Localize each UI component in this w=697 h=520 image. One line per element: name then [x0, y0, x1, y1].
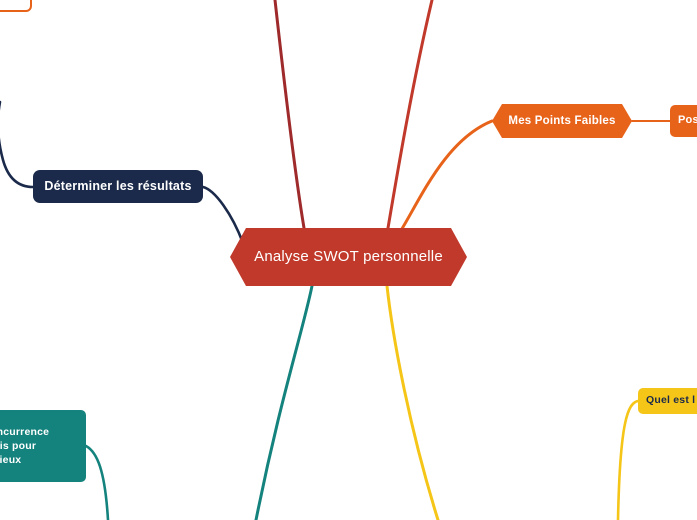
edge-dark-navy-left: [0, 102, 33, 187]
node-concurrence[interactable]: oncurrence lois pour mieux: [0, 410, 86, 482]
mindmap-canvas: Déterminer les résultats Mes Points Faib…: [0, 0, 697, 520]
edge-yellow-right: [618, 401, 638, 520]
edge-dark-red-up: [275, 0, 304, 228]
edge-yellow-down: [387, 286, 438, 520]
edge-orange: [400, 121, 492, 232]
edge-dark-navy: [203, 187, 243, 243]
edge-teal-left: [86, 446, 108, 520]
node-top-left-partial[interactable]: [0, 0, 32, 12]
edge-red-up: [388, 0, 432, 228]
node-mes-points-faibles[interactable]: Mes Points Faibles: [492, 104, 632, 138]
node-quel-est[interactable]: Quel est l: [638, 388, 697, 414]
node-determiner-resultats[interactable]: Déterminer les résultats: [33, 170, 203, 203]
node-central-analyse-swot[interactable]: Analyse SWOT personnelle: [230, 228, 467, 286]
edge-teal-down: [256, 286, 312, 520]
node-points-faibles-child[interactable]: Pos: [670, 105, 697, 137]
